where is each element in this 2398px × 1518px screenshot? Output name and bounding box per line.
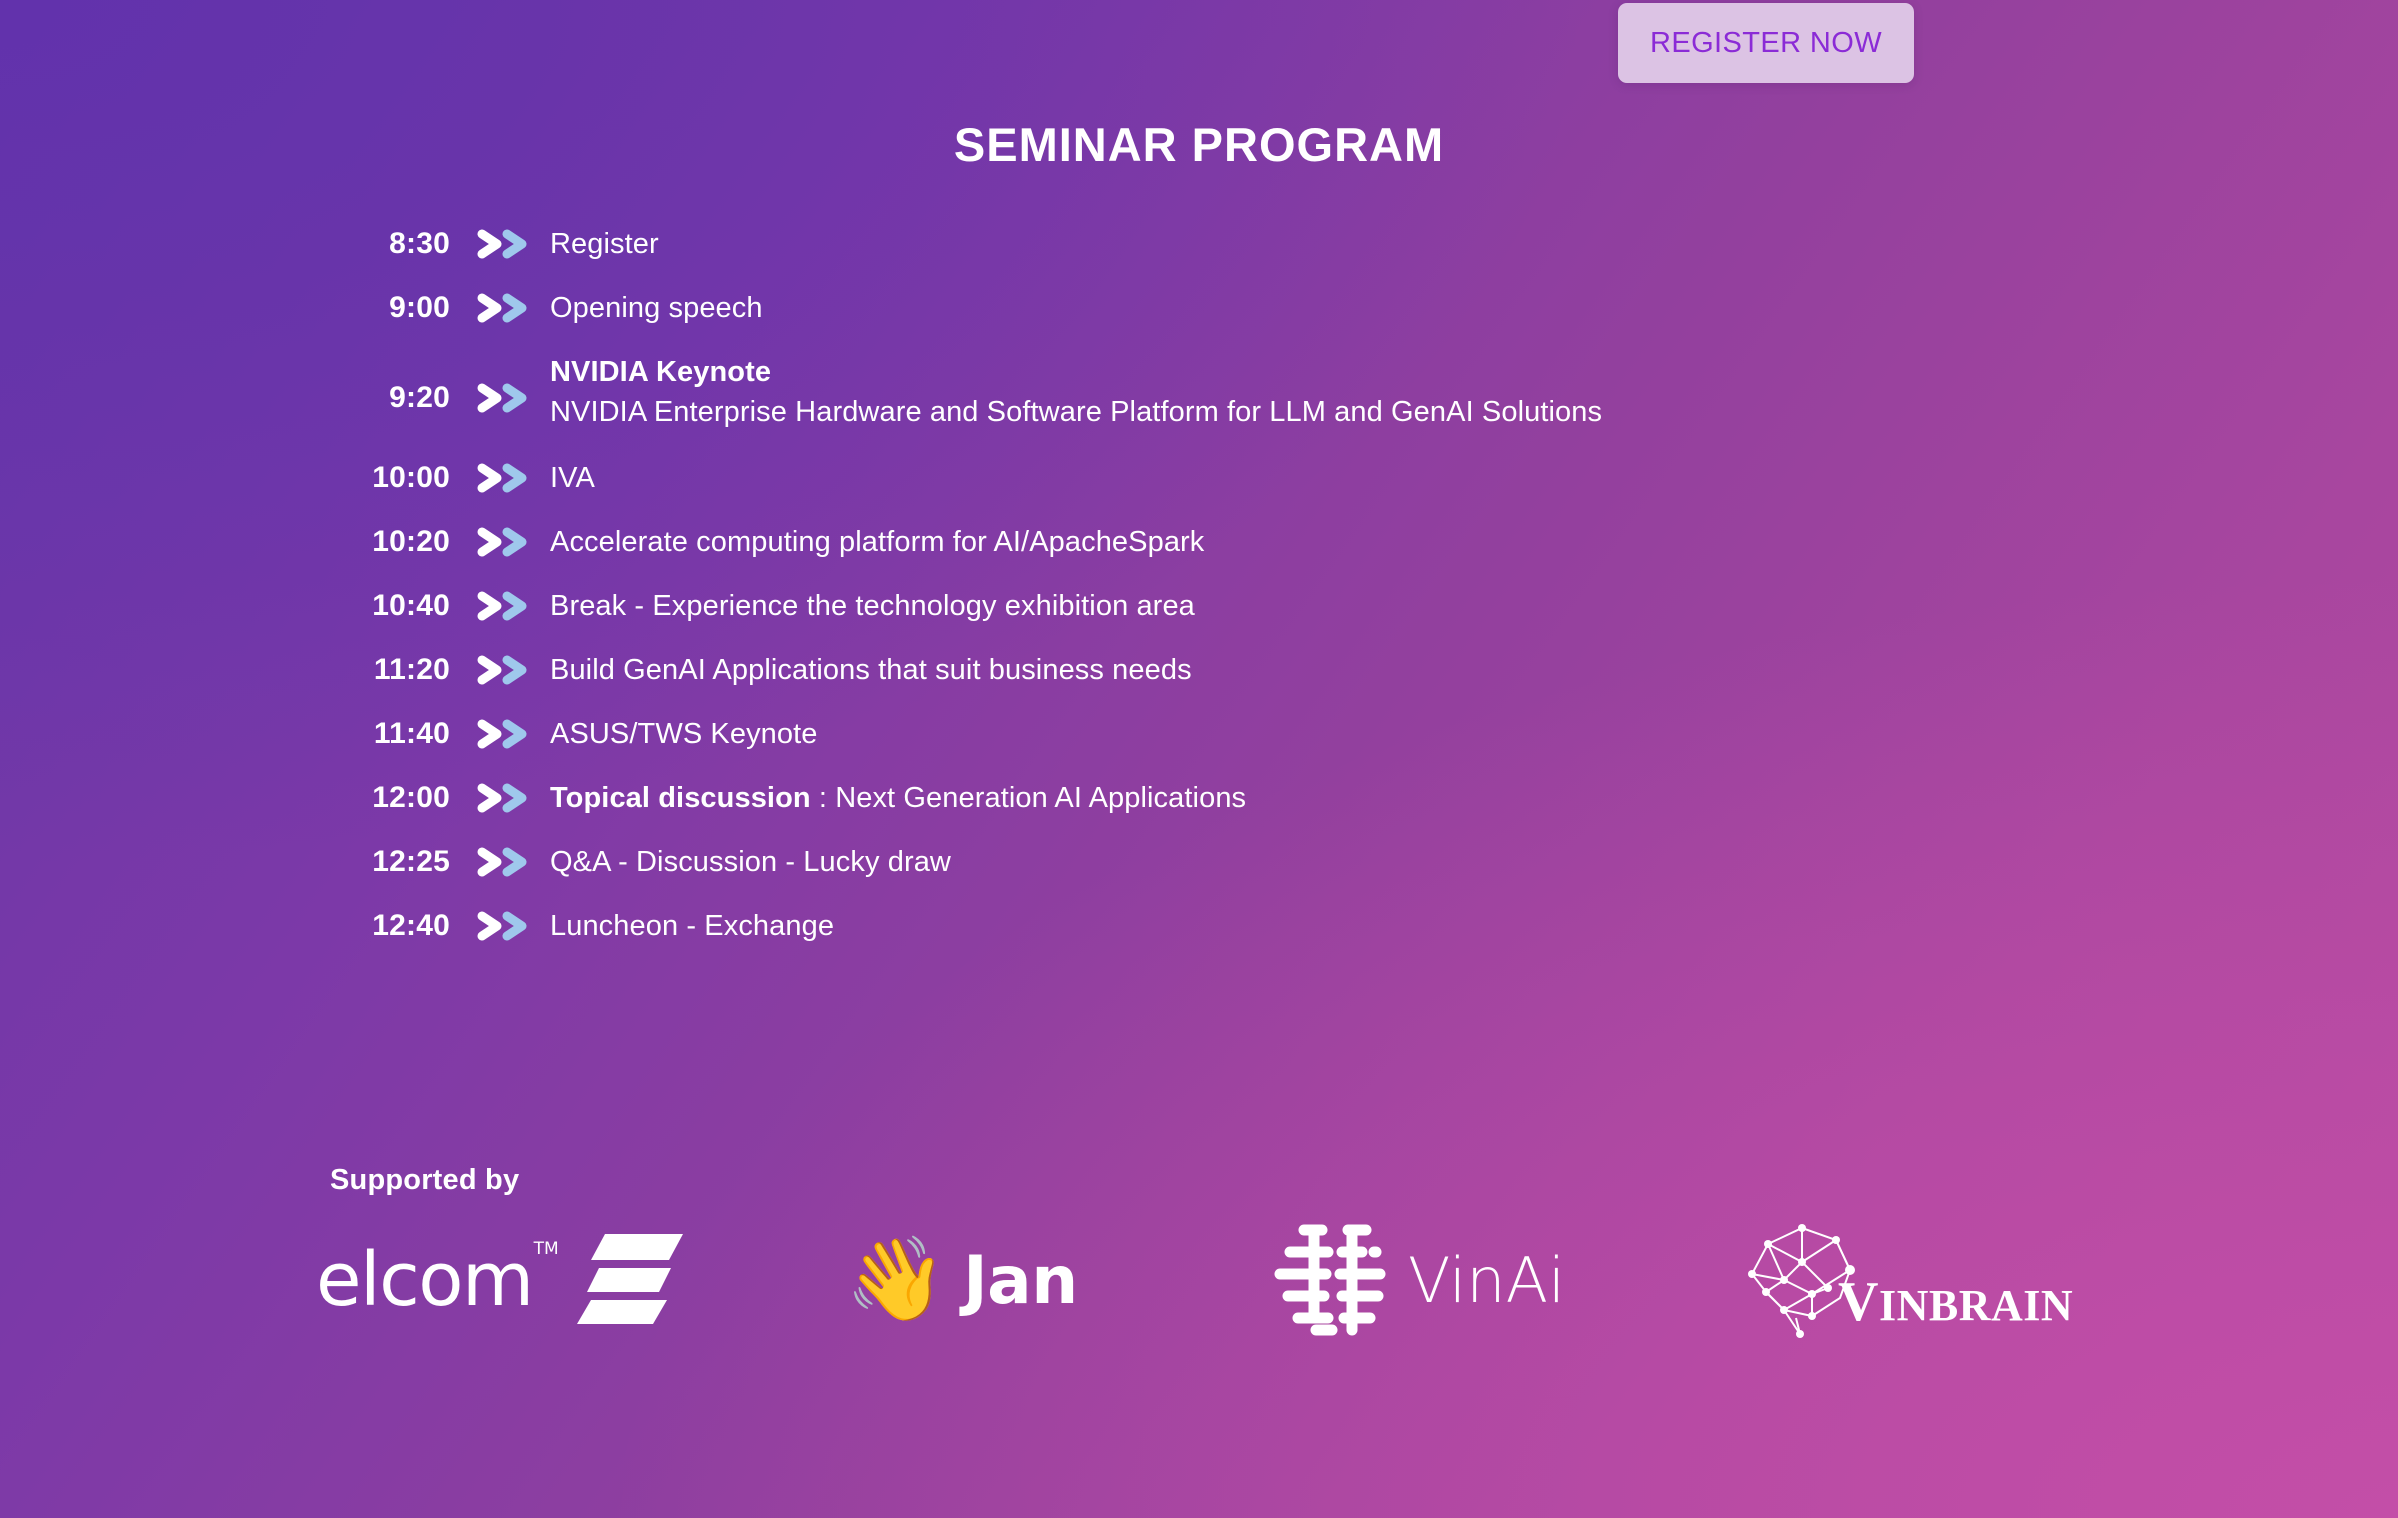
schedule-row: 9:20 NVIDIA Keynote NVIDIA Enterprise Ha… — [330, 350, 2030, 432]
schedule-row: 11:20 Build GenAI Applications that suit… — [330, 648, 2030, 690]
vinai-circuit-mark-icon — [1270, 1218, 1394, 1343]
schedule-time: 9:20 — [330, 350, 450, 418]
schedule-description: NVIDIA Keynote NVIDIA Enterprise Hardwar… — [550, 350, 2030, 432]
schedule-time: 10:20 — [330, 520, 450, 562]
register-now-button[interactable]: REGISTER NOW — [1618, 3, 1914, 83]
schedule-description: Opening speech — [550, 286, 2030, 328]
schedule-description: Accelerate computing platform for AI/Apa… — [550, 520, 2030, 562]
sponsor-logo-vinai: VinAi — [1270, 1215, 1565, 1345]
schedule-time: 11:20 — [330, 648, 450, 690]
schedule-subtitle: NVIDIA Enterprise Hardware and Software … — [550, 392, 2030, 432]
double-chevron-right-icon — [474, 222, 540, 262]
sponsor-logo-elcom: elcomTM — [316, 1215, 687, 1345]
schedule-description: Break - Experience the technology exhibi… — [550, 584, 2030, 626]
schedule-title: NVIDIA Keynote — [550, 352, 2030, 392]
jan-wordmark: Jan — [963, 1242, 1078, 1319]
schedule-time: 12:40 — [330, 904, 450, 946]
schedule-title-bold: Topical discussion — [550, 782, 811, 814]
vinai-wordmark: VinAi — [1408, 1244, 1565, 1317]
schedule-description: IVA — [550, 456, 2030, 498]
schedule-time: 8:30 — [330, 222, 450, 264]
schedule-description: Luncheon - Exchange — [550, 904, 2030, 946]
schedule-time: 9:00 — [330, 286, 450, 328]
schedule-description: Register — [550, 222, 2030, 264]
vinbrain-wordmark: VINBRAIN — [1838, 1270, 2073, 1334]
schedule-time: 12:00 — [330, 776, 450, 818]
schedule-time: 10:00 — [330, 456, 450, 498]
double-chevron-right-icon — [474, 520, 540, 560]
double-chevron-right-icon — [474, 286, 540, 326]
double-chevron-right-icon — [474, 776, 540, 816]
schedule-time: 12:25 — [330, 840, 450, 882]
schedule-row: 9:00 Opening speech — [330, 286, 2030, 328]
double-chevron-right-icon — [474, 648, 540, 688]
waving-hand-icon: 👋 — [845, 1239, 947, 1321]
double-chevron-right-icon — [474, 712, 540, 752]
double-chevron-right-icon — [474, 904, 540, 944]
schedule-description: Build GenAI Applications that suit busin… — [550, 648, 2030, 690]
sponsor-logos: elcomTM 👋 Jan — [300, 1215, 2130, 1345]
schedule-row: 10:00 IVA — [330, 456, 2030, 498]
schedule-row: 10:20 Accelerate computing platform for … — [330, 520, 2030, 562]
schedule-time: 11:40 — [330, 712, 450, 754]
schedule-row: 12:00 Topical discussion : Next Generati… — [330, 776, 2030, 818]
schedule-row: 8:30 Register — [330, 222, 2030, 264]
schedule-row: 11:40 ASUS/TWS Keynote — [330, 712, 2030, 754]
elcom-wordmark: elcomTM — [316, 1243, 533, 1317]
schedule-description: Q&A - Discussion - Lucky draw — [550, 840, 2030, 882]
elcom-e-mark-icon — [575, 1230, 687, 1331]
page-title: SEMINAR PROGRAM — [0, 117, 2398, 172]
schedule-row: 12:25 Q&A - Discussion - Lucky draw — [330, 840, 2030, 882]
double-chevron-right-icon — [474, 456, 540, 496]
double-chevron-right-icon — [474, 350, 540, 390]
double-chevron-right-icon — [474, 584, 540, 624]
trademark-symbol: TM — [534, 1241, 559, 1258]
schedule-description: Topical discussion : Next Generation AI … — [550, 776, 2030, 818]
seminar-schedule: 8:30 Register 9:00 Opening speech 9:20 N… — [330, 222, 2030, 968]
double-chevron-right-icon — [474, 840, 540, 880]
sponsor-logo-jan: 👋 Jan — [845, 1215, 1078, 1345]
supported-by-label: Supported by — [330, 1164, 519, 1197]
sponsor-logo-vinbrain: VINBRAIN — [1740, 1215, 2073, 1345]
schedule-row: 12:40 Luncheon - Exchange — [330, 904, 2030, 946]
schedule-time: 10:40 — [330, 584, 450, 626]
schedule-description: ASUS/TWS Keynote — [550, 712, 2030, 754]
schedule-row: 10:40 Break - Experience the technology … — [330, 584, 2030, 626]
schedule-title-rest: : Next Generation AI Applications — [811, 782, 1246, 814]
